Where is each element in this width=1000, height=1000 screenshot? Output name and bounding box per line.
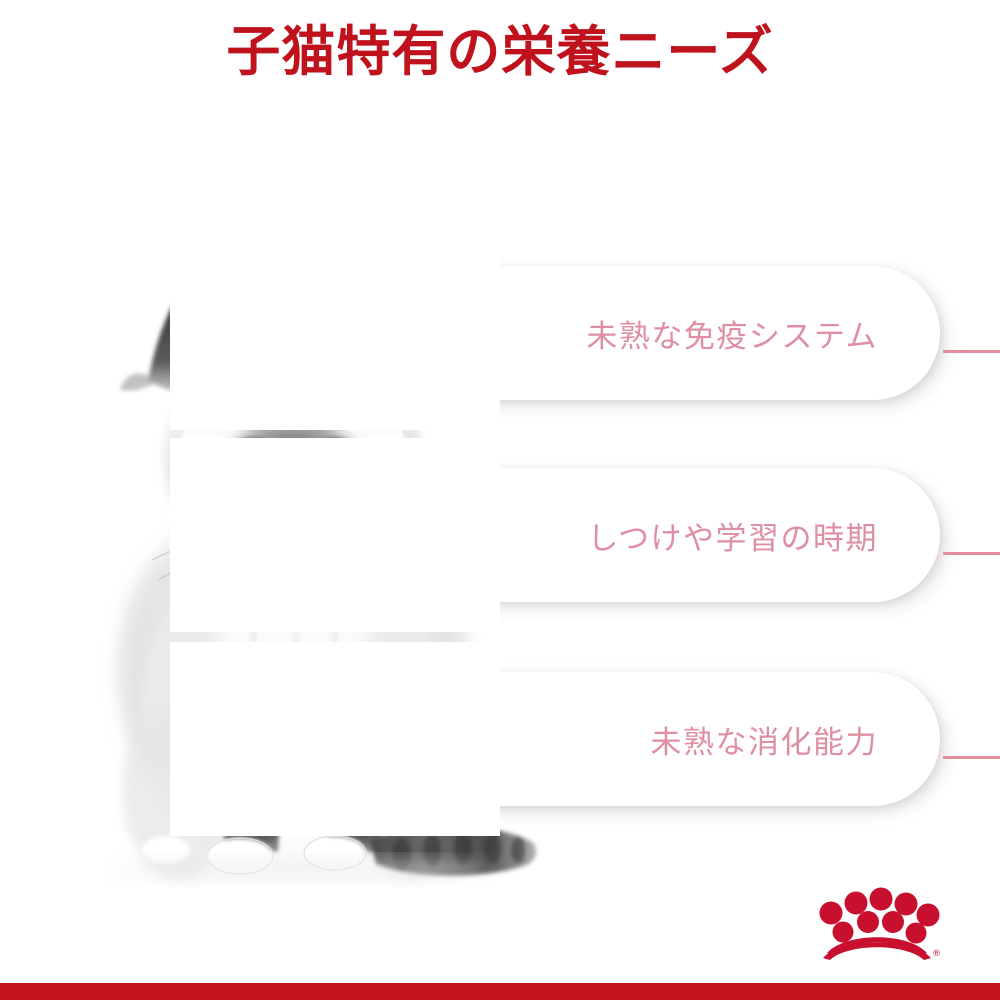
callout-label-2: しつけや学習の時期 xyxy=(587,513,878,558)
footer-bar xyxy=(0,983,1000,1000)
callout-card-2[interactable]: しつけや学習の時期 xyxy=(200,468,940,602)
royal-canin-crown-logo: ® xyxy=(812,884,942,962)
callout-label-3: 未熟な消化能力 xyxy=(651,717,879,762)
callout-card-3[interactable]: 未熟な消化能力 xyxy=(200,672,940,806)
callout-connector-1 xyxy=(943,350,1000,353)
registered-mark: ® xyxy=(932,949,941,959)
callout-card-1[interactable]: 未熟な免疫システム xyxy=(200,266,940,400)
poster-root: 子猫特有の栄養ニーズ xyxy=(0,0,1000,1000)
callout-label-1: 未熟な免疫システム xyxy=(586,311,878,356)
callout-connector-2 xyxy=(943,552,1000,555)
page-title: 子猫特有の栄養ニーズ xyxy=(0,22,1000,81)
callout-connector-3 xyxy=(943,756,1000,759)
